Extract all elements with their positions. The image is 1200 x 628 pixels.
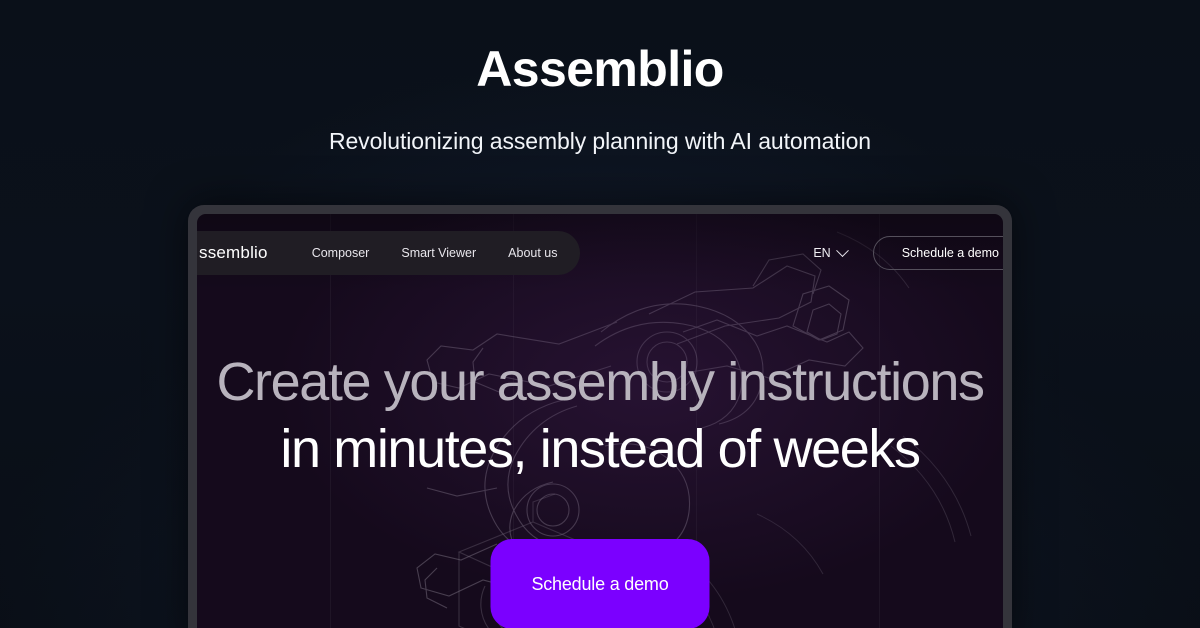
browser-viewport: ssemblio Composer Smart Viewer About us … (197, 214, 1003, 628)
site-navbar: ssemblio Composer Smart Viewer About us … (197, 231, 1003, 275)
language-selector[interactable]: EN (813, 246, 846, 260)
chevron-down-icon (836, 244, 849, 257)
page-subtitle: Revolutionizing assembly planning with A… (0, 128, 1200, 155)
nav-right-group: EN Schedule a demo (813, 231, 1003, 275)
site-logo[interactable]: ssemblio (199, 243, 268, 263)
promo-header: Assemblio Revolutionizing assembly plann… (0, 0, 1200, 155)
browser-frame: ssemblio Composer Smart Viewer About us … (188, 205, 1012, 628)
nav-link-about-us[interactable]: About us (508, 246, 557, 260)
nav-link-smart-viewer[interactable]: Smart Viewer (401, 246, 476, 260)
nav-link-composer[interactable]: Composer (312, 246, 370, 260)
nav-links: Composer Smart Viewer About us (312, 246, 558, 260)
language-value: EN (813, 246, 830, 260)
hero-schedule-demo-button[interactable]: Schedule a demo (491, 539, 710, 628)
nav-pill: ssemblio Composer Smart Viewer About us (197, 231, 580, 275)
hero-copy: Create your assembly instructions in min… (197, 349, 1003, 483)
page-title: Assemblio (0, 44, 1200, 94)
hero-headline-line-2: in minutes, instead of weeks (197, 416, 1003, 483)
nav-schedule-demo-button[interactable]: Schedule a demo (873, 236, 1003, 270)
hero-headline-line-1: Create your assembly instructions (197, 349, 1003, 416)
